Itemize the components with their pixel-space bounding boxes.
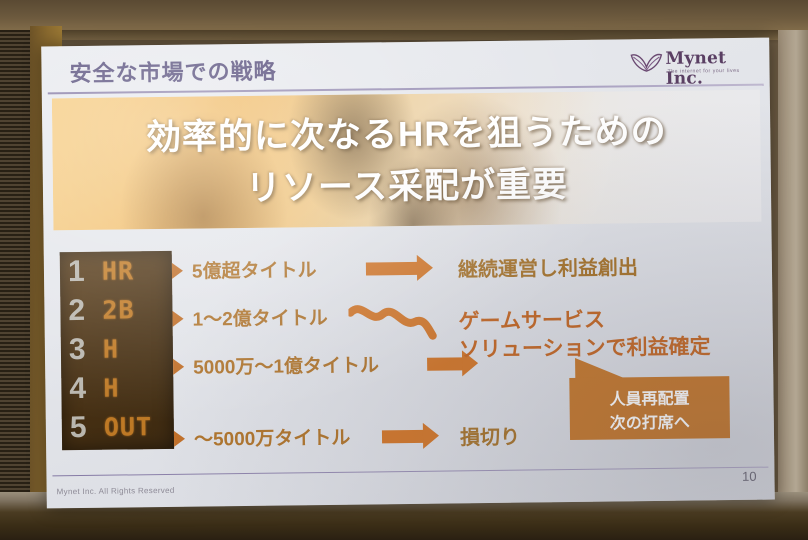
scoreboard-row: 2 2B (60, 290, 172, 331)
logo-tagline: The internet for your lives (668, 68, 740, 75)
wavy-arrow-icon (348, 298, 445, 355)
photographed-room: 安全な市場での戦略 Mynet Inc. The internet for yo… (0, 0, 808, 540)
scoreboard-number: 5 (70, 409, 87, 447)
hero-headline-line1: 効率的に次なるHRを狙うための (52, 102, 761, 162)
scoreboard-number: 2 (68, 292, 85, 330)
footer-divider (52, 466, 768, 476)
bullet-triangle-icon (174, 431, 185, 447)
presentation-slide: 安全な市場での戦略 Mynet Inc. The internet for yo… (41, 38, 775, 509)
hero-headline-line2: リソース采配が重要 (53, 154, 762, 214)
scoreboard-row: 3 H (61, 329, 173, 370)
scoreboard-code: H (103, 375, 119, 403)
tier-label: 5000万〜1億タイトル (193, 350, 379, 379)
bullet-triangle-icon (172, 263, 183, 279)
bullet-triangle-icon (172, 311, 183, 327)
scoreboard-number: 4 (69, 370, 86, 408)
footer-copyright: Mynet Inc. All Rights Reserved (57, 486, 175, 496)
butterfly-icon (629, 51, 663, 77)
scoreboard-row: 5 OUT (62, 407, 174, 448)
callout-box: 人員再配置 次の打席へ (569, 376, 730, 440)
page-title: 安全な市場での戦略 (69, 54, 276, 89)
bullet-triangle-icon (173, 359, 184, 375)
tier-label: 1〜2億タイトル (192, 303, 327, 332)
tier-label: 〜5000万タイトル (194, 423, 351, 452)
scoreboard-code: HR (102, 257, 134, 285)
outcome-middle-line1: ゲームサービス (458, 304, 605, 336)
scoreboard-code: 2B (102, 296, 134, 324)
window-blinds (0, 30, 34, 540)
scoreboard-row: 1 HR (60, 251, 172, 292)
scoreboard-code: OUT (104, 413, 152, 442)
hero-banner: 効率的に次なるHRを狙うための リソース采配が重要 (52, 90, 762, 231)
callout-line1: 人員再配置 (569, 384, 729, 410)
callout-line2: 次の打席へ (570, 408, 730, 434)
straight-arrow-icon (366, 262, 418, 276)
scoreboard-code: H (103, 336, 119, 364)
scoreboard-number: 1 (68, 253, 85, 291)
scoreboard-row: 4 H (61, 368, 173, 409)
company-logo: Mynet Inc. The internet for your lives (629, 46, 753, 84)
straight-arrow-icon (427, 357, 463, 370)
straight-arrow-icon (382, 430, 424, 444)
outcome-top: 継続運営し利益創出 (458, 251, 638, 282)
page-number: 10 (742, 469, 757, 484)
scoreboard-number: 3 (69, 331, 86, 369)
scoreboard-panel: 1 HR 2 2B 3 H 4 H 5 OUT (60, 251, 174, 450)
right-wall (778, 30, 808, 540)
outcome-bottom: 損切り (460, 421, 520, 451)
tier-label: 5億超タイトル (192, 255, 317, 284)
